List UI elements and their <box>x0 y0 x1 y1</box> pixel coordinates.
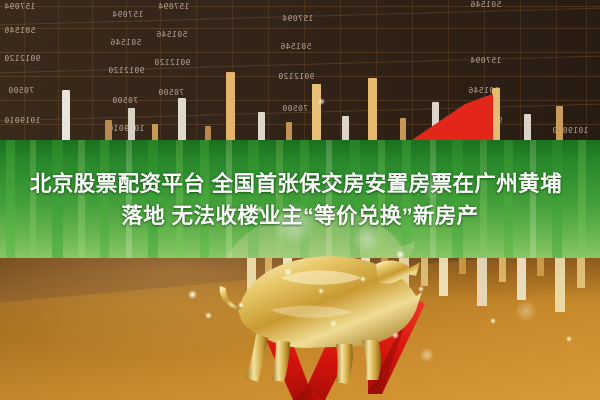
light-spark <box>515 300 537 322</box>
chart-axis-label: 501546 <box>280 42 311 51</box>
light-spark <box>420 348 434 362</box>
news-banner-image: 157094 501546 9012120 70500 1019010 1570… <box>0 0 600 400</box>
chart-axis-label: 9012120 <box>4 54 41 63</box>
chart-candle <box>556 106 563 142</box>
chart-candle <box>286 122 292 142</box>
light-spark <box>330 320 337 327</box>
chart-axis-label: 70500 <box>158 88 184 97</box>
chart-axis-label: 1019010 <box>4 116 41 125</box>
chart-candle <box>178 98 186 142</box>
chart-axis-label: 501546 <box>156 30 187 39</box>
green-band-veil <box>0 140 600 260</box>
chart-axis-label: 9012120 <box>108 66 145 75</box>
light-spark <box>566 336 572 342</box>
chart-axis-label: 157094 <box>158 2 189 11</box>
red-arrow-icon <box>375 92 495 142</box>
chart-axis-label: 157094 <box>112 10 143 19</box>
chart-candle <box>62 90 70 142</box>
chart-candle <box>128 108 135 142</box>
light-spark <box>490 318 496 324</box>
golden-bull-statue <box>210 248 425 388</box>
light-spark <box>318 98 325 105</box>
chart-axis-label: 70500 <box>112 96 138 105</box>
light-spark <box>205 312 212 319</box>
light-spark <box>188 290 197 299</box>
chart-axis-label: 501546 <box>110 38 141 47</box>
chart-candle <box>342 116 349 142</box>
light-spark <box>396 250 405 259</box>
stock-chart-background: 157094 501546 9012120 70500 1019010 1570… <box>0 0 600 142</box>
chart-candle <box>226 72 235 142</box>
chart-axis-label: 501546 <box>4 26 35 35</box>
light-spark <box>284 268 292 276</box>
chart-axis-label: 157094 <box>282 14 313 23</box>
chart-axis-label: 157094 <box>470 56 501 65</box>
light-spark <box>392 332 399 339</box>
chart-axis-label: 157094 <box>4 2 35 11</box>
chart-axis-label: 9012120 <box>154 58 191 67</box>
chart-axis-label: 501546 <box>470 0 501 9</box>
light-spark <box>256 206 263 213</box>
light-spark <box>418 286 424 292</box>
chart-axis-label: 70500 <box>8 86 34 95</box>
chart-candle <box>312 84 321 142</box>
chart-axis-label: 1019010 <box>108 124 145 133</box>
light-spark <box>318 288 324 294</box>
chart-candle <box>524 114 531 142</box>
light-spark <box>238 302 244 308</box>
chart-candle <box>105 120 112 142</box>
chart-candle <box>258 112 265 142</box>
light-spark <box>360 276 366 282</box>
chart-axis-label: 70500 <box>282 104 308 113</box>
chart-axis-label: 9012120 <box>278 72 315 81</box>
